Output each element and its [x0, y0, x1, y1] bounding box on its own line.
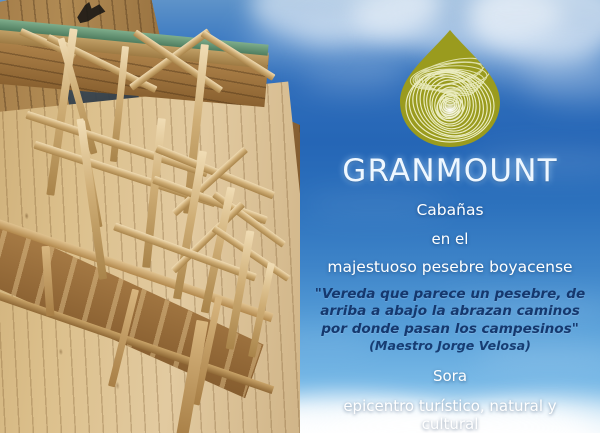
brand-logo [392, 28, 508, 150]
location-description: epicentro turístico, natural y cultural [325, 397, 575, 433]
brand-panel: GRANMOUNT Cabañas en el majestuoso peseb… [300, 0, 600, 433]
cabin-photo [0, 0, 300, 433]
location-name: Sora [433, 367, 467, 385]
egg-spiral-logo-icon [392, 28, 508, 150]
tagline-line-3: majestuoso pesebre boyacense [327, 260, 572, 276]
quote-text: "Vereda que parece un pesebre, de arriba… [311, 286, 589, 338]
quote-attribution: (Maestro Jorge Velosa) [369, 338, 531, 354]
tagline-line-2: en el [432, 232, 469, 247]
poster-canvas: GRANMOUNT Cabañas en el majestuoso peseb… [0, 0, 600, 433]
tagline-line-1: Cabañas [416, 203, 483, 219]
brand-name: GRANMOUNT [342, 156, 557, 187]
